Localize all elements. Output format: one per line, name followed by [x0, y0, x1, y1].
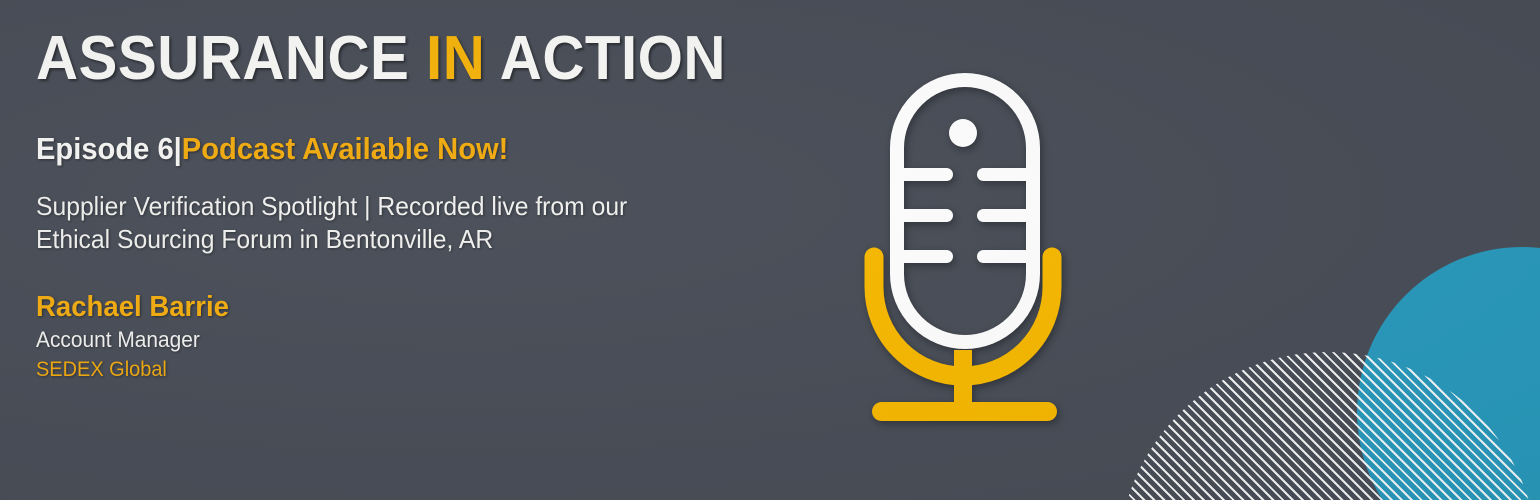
headline-highlight: IN [426, 24, 485, 93]
speaker-role: Account Manager [36, 326, 815, 355]
microphone-icon [852, 62, 1082, 432]
podcast-promo-banner: ASSURANCE IN ACTION Episode 6|Podcast Av… [0, 0, 1540, 500]
podcast-availability-callout: Podcast Available Now! [182, 131, 509, 166]
mic-grille-bars-left [897, 168, 953, 263]
speaker-block: Rachael Barrie Account Manager SEDEX Glo… [36, 291, 815, 383]
mic-stand-base [872, 402, 1057, 421]
speaker-organization: SEDEX Global [36, 356, 815, 383]
banner-text-block: ASSURANCE IN ACTION Episode 6|Podcast Av… [36, 28, 856, 383]
episode-subtitle: Supplier Verification Spotlight | Record… [36, 190, 644, 257]
teal-circle-decoration [1357, 247, 1540, 500]
episode-line: Episode 6|Podcast Available Now! [36, 132, 807, 166]
headline-part-one: ASSURANCE [36, 24, 426, 93]
banner-headline: ASSURANCE IN ACTION [36, 28, 807, 90]
mic-grille-bars-right [977, 168, 1033, 263]
striped-circle-decoration [1118, 352, 1538, 500]
mic-top-dot [949, 119, 977, 147]
episode-label: Episode 6| [36, 131, 182, 166]
speaker-name: Rachael Barrie [36, 291, 815, 324]
headline-part-two: ACTION [485, 24, 726, 93]
